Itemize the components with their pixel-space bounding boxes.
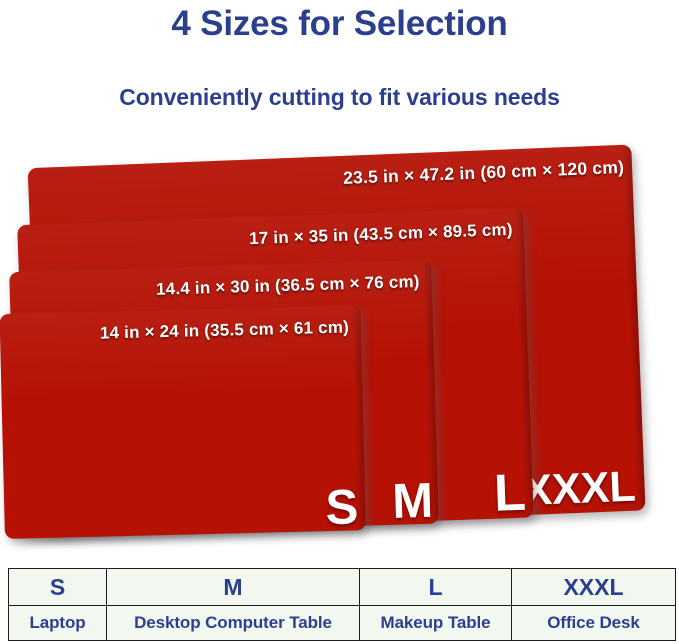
- mat-m-dimensions: 14.4 in × 30 in (36.5 cm × 76 cm): [156, 272, 420, 300]
- legend-size-m: M: [107, 569, 360, 606]
- legend-use-l: Makeup Table: [360, 606, 512, 641]
- mat-s-size-letter: S: [325, 483, 359, 533]
- size-usage-table: S M L XXXL Laptop Desktop Computer Table…: [8, 568, 676, 641]
- mat-l-size-letter: L: [493, 467, 527, 520]
- legend-size-xxxl: XXXL: [512, 569, 676, 606]
- mat-xxxl-dimensions: 23.5 in × 47.2 in (60 cm × 120 cm): [343, 157, 625, 189]
- mat-size-stack: 23.5 in × 47.2 in (60 cm × 120 cm) XXXL …: [0, 0, 679, 570]
- mat-s: 14 in × 24 in (35.5 cm × 61 cm) S: [0, 305, 366, 539]
- table-row-uses: Laptop Desktop Computer Table Makeup Tab…: [9, 606, 676, 641]
- table-row-sizes: S M L XXXL: [9, 569, 676, 606]
- legend-size-l: L: [360, 569, 512, 606]
- legend-use-xxxl: Office Desk: [512, 606, 676, 641]
- mat-s-dimensions: 14 in × 24 in (35.5 cm × 61 cm): [100, 318, 349, 344]
- mat-m-size-letter: M: [392, 477, 434, 527]
- legend-size-s: S: [9, 569, 107, 606]
- legend-use-m: Desktop Computer Table: [107, 606, 360, 641]
- legend-use-s: Laptop: [9, 606, 107, 641]
- mat-l-dimensions: 17 in × 35 in (43.5 cm × 89.5 cm): [249, 220, 513, 249]
- mat-xxxl-size-letter: XXXL: [523, 466, 637, 513]
